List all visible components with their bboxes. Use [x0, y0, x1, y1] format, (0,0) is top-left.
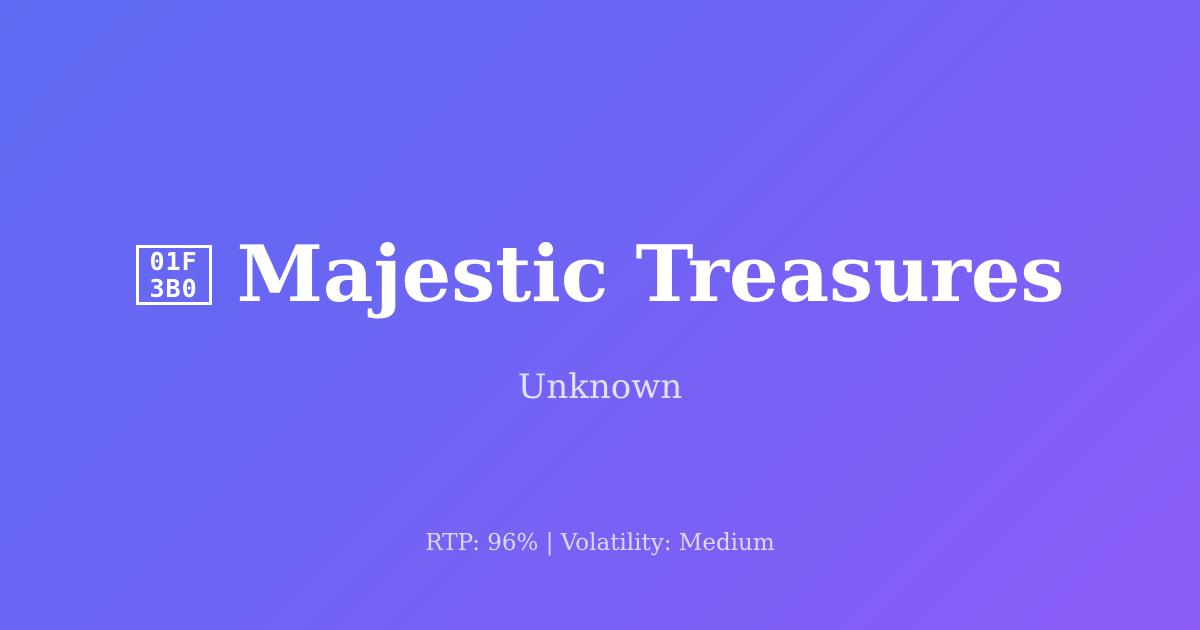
game-og-card: 01F 3B0 Majestic Treasures Unknown RTP: …: [0, 0, 1200, 630]
tofu-codepoint-bottom: 3B0: [150, 275, 198, 302]
slot-machine-icon: 01F 3B0: [136, 245, 212, 305]
page-title: Majestic Treasures: [237, 232, 1065, 318]
title-row: 01F 3B0 Majestic Treasures: [0, 232, 1200, 318]
game-meta: RTP: 96% | Volatility: Medium: [0, 528, 1200, 558]
game-provider: Unknown: [0, 365, 1200, 409]
tofu-codepoint-top: 01F: [150, 248, 198, 275]
